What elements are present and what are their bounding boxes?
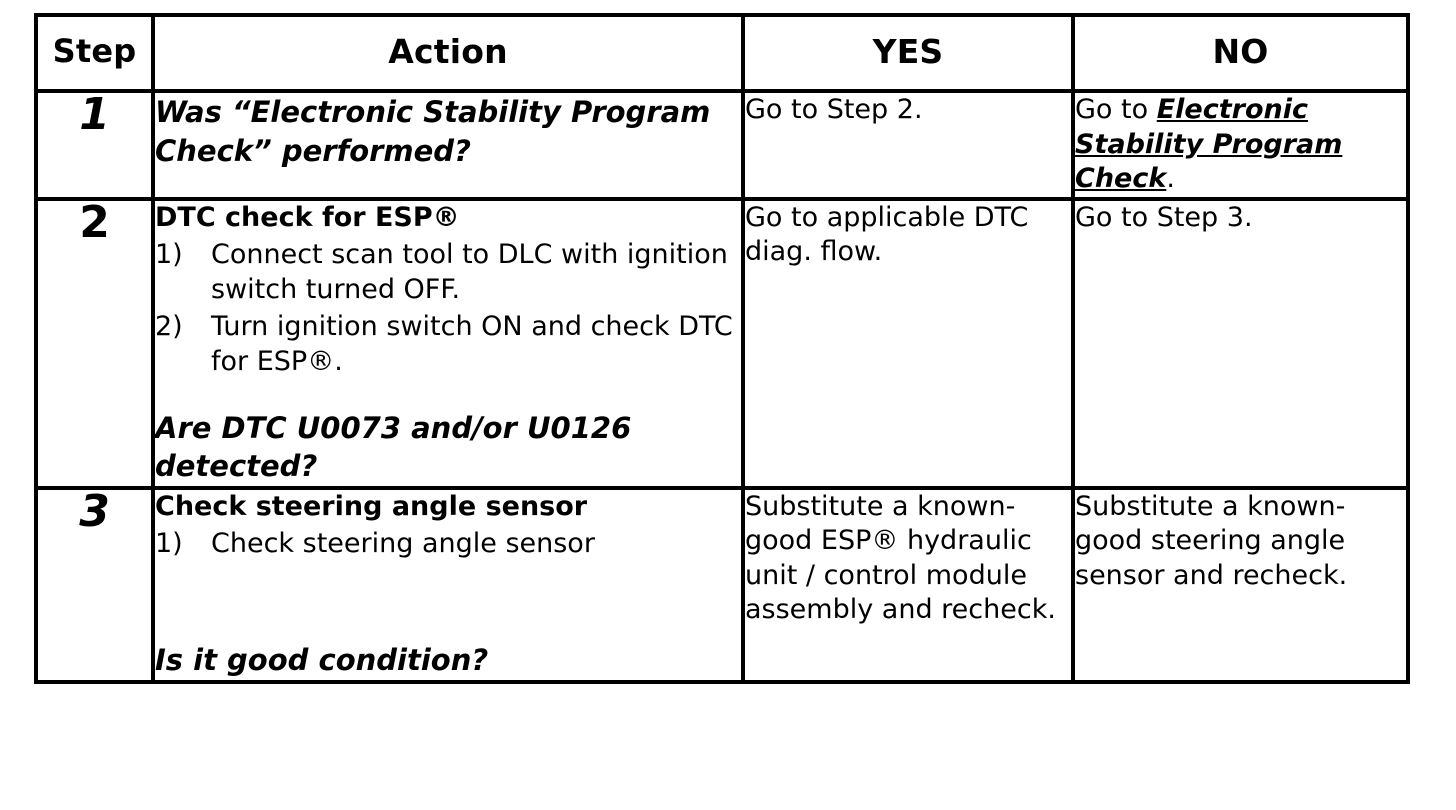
no-text-prefix: Go to Step 3.	[1075, 202, 1253, 233]
diagnostic-flow-page: Step Action YES NO 1 Was “Electronic Sta…	[0, 0, 1456, 810]
step-number: 2	[36, 199, 153, 488]
no-text-suffix: .	[1166, 163, 1175, 194]
action-step-text: Check steering angle sensor	[211, 528, 595, 559]
yes-text: Substitute a known-good ESP® hydraulic u…	[745, 491, 1056, 626]
action-cell: Was “Electronic Stability Program Check”…	[153, 91, 743, 199]
action-step-text: Connect scan tool to DLC with ignition s…	[211, 239, 728, 305]
no-text-prefix: Go to	[1075, 94, 1157, 125]
action-step-list: 1) Check steering angle sensor	[155, 527, 741, 562]
column-header-no: NO	[1073, 15, 1408, 91]
no-cell: Go to Step 3.	[1073, 199, 1408, 488]
spacer	[155, 565, 741, 641]
column-header-step: Step	[36, 15, 153, 91]
yes-cell: Go to Step 2.	[743, 91, 1073, 199]
action-step-text: Turn ignition switch ON and check DTC fo…	[211, 311, 733, 377]
action-step-item: 1) Connect scan tool to DLC with ignitio…	[155, 238, 741, 307]
action-title: Was “Electronic Stability Program Check”…	[155, 93, 741, 170]
yes-text: Go to applicable DTC diag. flow.	[745, 202, 1028, 268]
action-step-number: 2)	[155, 310, 203, 345]
action-title: DTC check for ESP®	[155, 201, 741, 235]
action-step-number: 1)	[155, 238, 203, 273]
diagnostic-flow-table: Step Action YES NO 1 Was “Electronic Sta…	[34, 13, 1410, 684]
yes-cell: Substitute a known-good ESP® hydraulic u…	[743, 488, 1073, 682]
action-question: Are DTC U0073 and/or U0126 detected?	[155, 409, 741, 486]
action-cell: DTC check for ESP® 1) Connect scan tool …	[153, 199, 743, 488]
yes-cell: Go to applicable DTC diag. flow.	[743, 199, 1073, 488]
action-step-item: 1) Check steering angle sensor	[155, 527, 741, 562]
table-row: 1 Was “Electronic Stability Program Chec…	[36, 91, 1408, 199]
column-header-action: Action	[153, 15, 743, 91]
table-row: 2 DTC check for ESP® 1) Connect scan too…	[36, 199, 1408, 488]
action-step-list: 1) Connect scan tool to DLC with ignitio…	[155, 238, 741, 379]
yes-text: Go to Step 2.	[745, 94, 923, 125]
action-question: Is it good condition?	[155, 641, 741, 680]
action-step-item: 2) Turn ignition switch ON and check DTC…	[155, 310, 741, 379]
no-text-prefix: Substitute a known-good steering angle s…	[1075, 491, 1347, 591]
action-step-number: 1)	[155, 527, 203, 562]
column-header-yes: YES	[743, 15, 1073, 91]
no-cell: Go to Electronic Stability Program Check…	[1073, 91, 1408, 199]
no-cell: Substitute a known-good steering angle s…	[1073, 488, 1408, 682]
spacer	[155, 383, 741, 409]
table-header-row: Step Action YES NO	[36, 15, 1408, 91]
step-number: 3	[36, 488, 153, 682]
action-title: Check steering angle sensor	[155, 490, 741, 524]
table-row: 3 Check steering angle sensor 1) Check s…	[36, 488, 1408, 682]
action-cell: Check steering angle sensor 1) Check ste…	[153, 488, 743, 682]
step-number: 1	[36, 91, 153, 199]
